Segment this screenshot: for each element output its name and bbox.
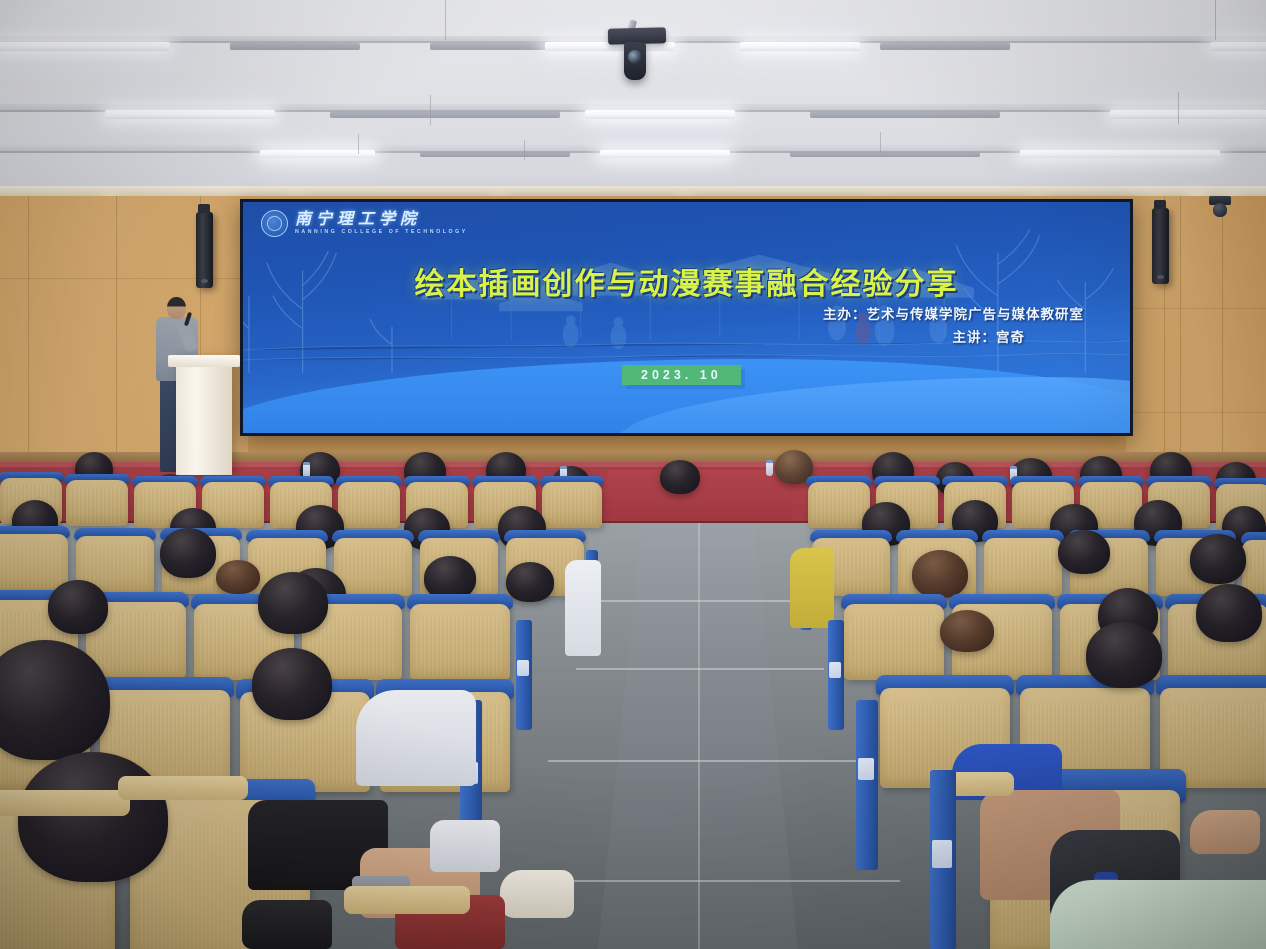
seat-armrest (344, 886, 470, 914)
seat-number-tag (858, 758, 874, 780)
ceiling-camera (1213, 203, 1227, 217)
seat-number-tag (932, 840, 952, 868)
lecture-hall-photo: 南宁理工学院 NANNING COLLEGE OF TECHNOLOGY 绘本插… (0, 0, 1266, 949)
ceiling-strip-light (1210, 42, 1266, 51)
ceiling-strip-light (810, 111, 1000, 118)
projector-lens-icon (628, 50, 642, 64)
right-wall (1126, 196, 1266, 468)
speaker-podium (176, 355, 232, 475)
audience-person (356, 690, 476, 786)
auditorium-seat[interactable] (0, 534, 68, 592)
presentation-title: 绘本插画创作与动漫赛事融合经验分享 (243, 259, 1130, 303)
audience-shoe (242, 900, 332, 949)
audience-person-foreground (430, 820, 500, 872)
seat-armrest (0, 790, 130, 816)
institution-name-en: NANNING COLLEGE OF TECHNOLOGY (295, 230, 468, 235)
ceiling-strip-light (0, 42, 170, 51)
presenter-head (167, 297, 186, 319)
audience-head (940, 610, 994, 652)
university-seal-icon (261, 210, 288, 237)
audience-head (660, 460, 700, 494)
auditorium-seat[interactable] (66, 480, 128, 526)
audience-person (565, 560, 601, 656)
ceiling-strip-light (430, 43, 550, 50)
ceiling (0, 0, 1266, 200)
audience-head (48, 580, 108, 634)
audience-head (1086, 622, 1162, 688)
ceiling-strip-light (330, 111, 560, 118)
auditorium-seat[interactable] (334, 538, 412, 596)
seat-number-tag (517, 660, 529, 676)
ceiling-strip-light (230, 43, 360, 50)
podium-top (168, 355, 240, 367)
ceiling-strip-light (740, 42, 860, 51)
audience-head (1196, 584, 1262, 642)
stage-center-step (608, 470, 792, 526)
audience-hand (1190, 810, 1260, 854)
institution-name-cn: 南宁理工学院 (295, 211, 468, 227)
seat-frame (856, 700, 878, 870)
audience-head (1190, 534, 1246, 584)
wall-speaker-left (196, 212, 213, 288)
presentation-date-badge: 2023. 10 (622, 365, 741, 385)
audience-person-foreground (1050, 880, 1266, 949)
audience-head (160, 528, 216, 578)
audience-head-foreground (18, 752, 168, 882)
ceiling-strip-light (1110, 110, 1266, 119)
presentation-organizer: 主办：艺术与传媒学院广告与媒体教研室 (823, 303, 1084, 323)
ceiling-strip-light (790, 151, 980, 157)
audience-person (790, 548, 834, 628)
audience-head (216, 560, 260, 594)
audience-head (258, 572, 328, 634)
seat-number-tag (829, 662, 841, 678)
ceiling-strip-light (105, 110, 275, 119)
seat-armrest (118, 776, 248, 800)
audience-head (1058, 530, 1110, 574)
led-presentation-screen[interactable]: 南宁理工学院 NANNING COLLEGE OF TECHNOLOGY 绘本插… (240, 199, 1133, 436)
auditorium-seat[interactable] (808, 482, 870, 528)
ceiling-strip-light (585, 110, 735, 119)
screen-logo: 南宁理工学院 NANNING COLLEGE OF TECHNOLOGY (261, 210, 468, 237)
wall-speaker-right (1152, 208, 1169, 284)
water-bottle (766, 460, 773, 476)
ceiling-strip-light (880, 43, 1010, 50)
auditorium-seat[interactable] (984, 538, 1062, 596)
auditorium-seat[interactable] (542, 482, 602, 528)
presentation-speaker: 主讲：宫奇 (953, 326, 1026, 346)
audience-head (506, 562, 554, 602)
audience-head (252, 648, 332, 720)
auditorium-seat[interactable] (338, 482, 400, 528)
auditorium-seat[interactable] (844, 604, 944, 680)
auditorium-seat[interactable] (410, 604, 510, 680)
audience-head (912, 550, 968, 598)
ceiling-strip-light (600, 150, 730, 158)
audience-shoe (500, 870, 574, 918)
ceiling-strip-light (1020, 150, 1220, 158)
ceiling-strip-light (420, 151, 570, 157)
